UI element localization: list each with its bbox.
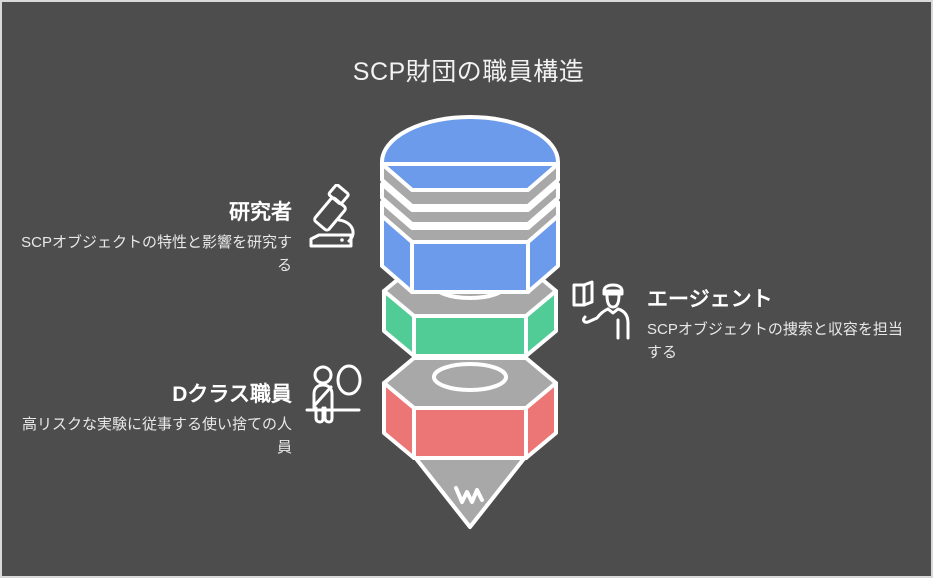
callout-researcher-body: SCPオブジェクトの特性と影響を研究する [20, 232, 292, 277]
funnel-diagram [372, 102, 568, 532]
page-title: SCP財団の職員構造 [2, 52, 933, 88]
callout-researcher-heading: 研究者 [20, 200, 292, 226]
callout-agent-heading: エージェント [647, 287, 907, 313]
callout-dclass[interactable]: Dクラス職員 高リスクな実験に従事する使い捨ての人員 [20, 382, 292, 459]
callout-agent-body: SCPオブジェクトの捜索と収容を担当する [647, 319, 907, 364]
callout-dclass-heading: Dクラス職員 [20, 382, 292, 408]
funnel-segment-researcher [382, 117, 558, 292]
slide-canvas: SCP財団の職員構造 [0, 0, 933, 578]
agent-officer-icon [570, 280, 634, 342]
callout-agent[interactable]: エージェント SCPオブジェクトの捜索と収容を担当する [647, 287, 907, 364]
funnel-segment-dclass [384, 358, 556, 458]
callout-dclass-body: 高リスクな実験に従事する使い捨ての人員 [20, 414, 292, 459]
seated-person-icon [305, 364, 367, 426]
callout-researcher[interactable]: 研究者 SCPオブジェクトの特性と影響を研究する [20, 200, 292, 277]
microscope-icon [305, 184, 367, 254]
